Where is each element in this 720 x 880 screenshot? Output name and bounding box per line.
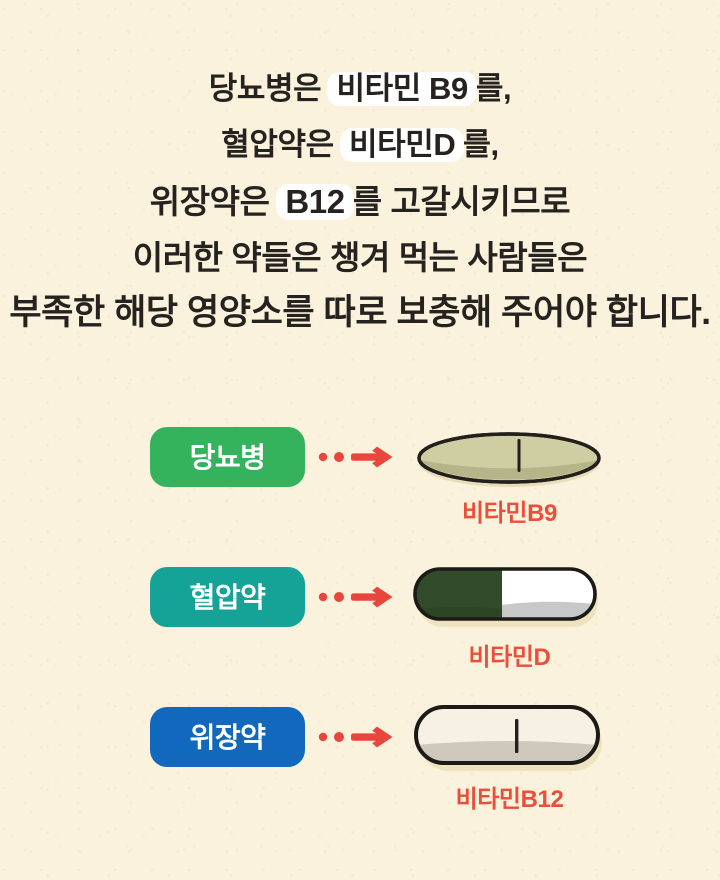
headline-line-4: 이러한 약들은 챙겨 먹는 사람들은 — [0, 241, 720, 274]
dashed-arrow-right-icon — [318, 725, 406, 749]
drug-nutrient-rows: 당뇨병 — [0, 415, 720, 835]
drug-nutrient-row: 위장약 — [0, 695, 720, 835]
headline-line-5-text: 부족한 해당 영양소를 따로 보충해 주어야 합니다. — [9, 293, 710, 332]
caplet-tablet-icon — [412, 701, 607, 777]
headline-line-2-before: 혈압약은 — [221, 127, 342, 162]
drug-badge-label: 혈압약 — [190, 576, 266, 616]
nutrient-pill-b9: 비타민B9 — [412, 415, 612, 555]
drug-badge-label: 위장약 — [190, 716, 266, 756]
drug-nutrient-row: 혈압약 — [0, 555, 720, 695]
headline-line-3-before: 위장약은 — [150, 183, 279, 220]
headline-line-2: 혈압약은 비타민D를, — [0, 128, 720, 162]
headline: 당뇨병은 비타민 B9를, 혈압약은 비타민D를, 위장약은 B12를 고갈시키… — [0, 72, 720, 330]
dashed-arrow-right-icon — [318, 445, 406, 469]
drug-badge-label: 당뇨병 — [190, 436, 266, 476]
nutrient-pill-d: 비타민D — [412, 555, 612, 695]
drug-badge-diabetes[interactable]: 당뇨병 — [150, 427, 305, 487]
nutrient-pill-label: 비타민D — [412, 637, 607, 672]
headline-line-4-text: 이러한 약들은 챙겨 먹는 사람들은 — [133, 239, 588, 276]
drug-badge-blood-pressure[interactable]: 혈압약 — [150, 567, 305, 627]
infographic-page: 당뇨병은 비타민 B9를, 혈압약은 비타민D를, 위장약은 B12를 고갈시키… — [0, 0, 720, 880]
headline-line-2-after: 를, — [462, 127, 498, 162]
headline-highlight-b12: B12 — [276, 184, 353, 220]
headline-line-1-before: 당뇨병은 — [209, 71, 330, 106]
nutrient-pill-label: 비타민B9 — [412, 493, 607, 528]
headline-highlight-vitamin-b9: 비타민 B9 — [327, 72, 476, 106]
headline-highlight-vitamin-d: 비타민D — [340, 128, 464, 162]
headline-line-1-after: 를, — [475, 71, 511, 106]
oval-tablet-icon — [412, 427, 607, 489]
nutrient-pill-b12: 비타민B12 — [412, 695, 612, 835]
headline-line-1: 당뇨병은 비타민 B9를, — [0, 72, 720, 106]
headline-line-3-after: 를 고갈시키므로 — [352, 183, 571, 220]
headline-line-3: 위장약은 B12를 고갈시키므로 — [0, 184, 720, 220]
nutrient-pill-label: 비타민B12 — [412, 779, 607, 814]
capsule-icon — [412, 565, 607, 631]
drug-badge-stomach[interactable]: 위장약 — [150, 707, 305, 767]
dashed-arrow-right-icon — [318, 585, 406, 609]
drug-nutrient-row: 당뇨병 — [0, 415, 720, 555]
headline-line-5: 부족한 해당 영양소를 따로 보충해 주어야 합니다. — [0, 295, 720, 330]
